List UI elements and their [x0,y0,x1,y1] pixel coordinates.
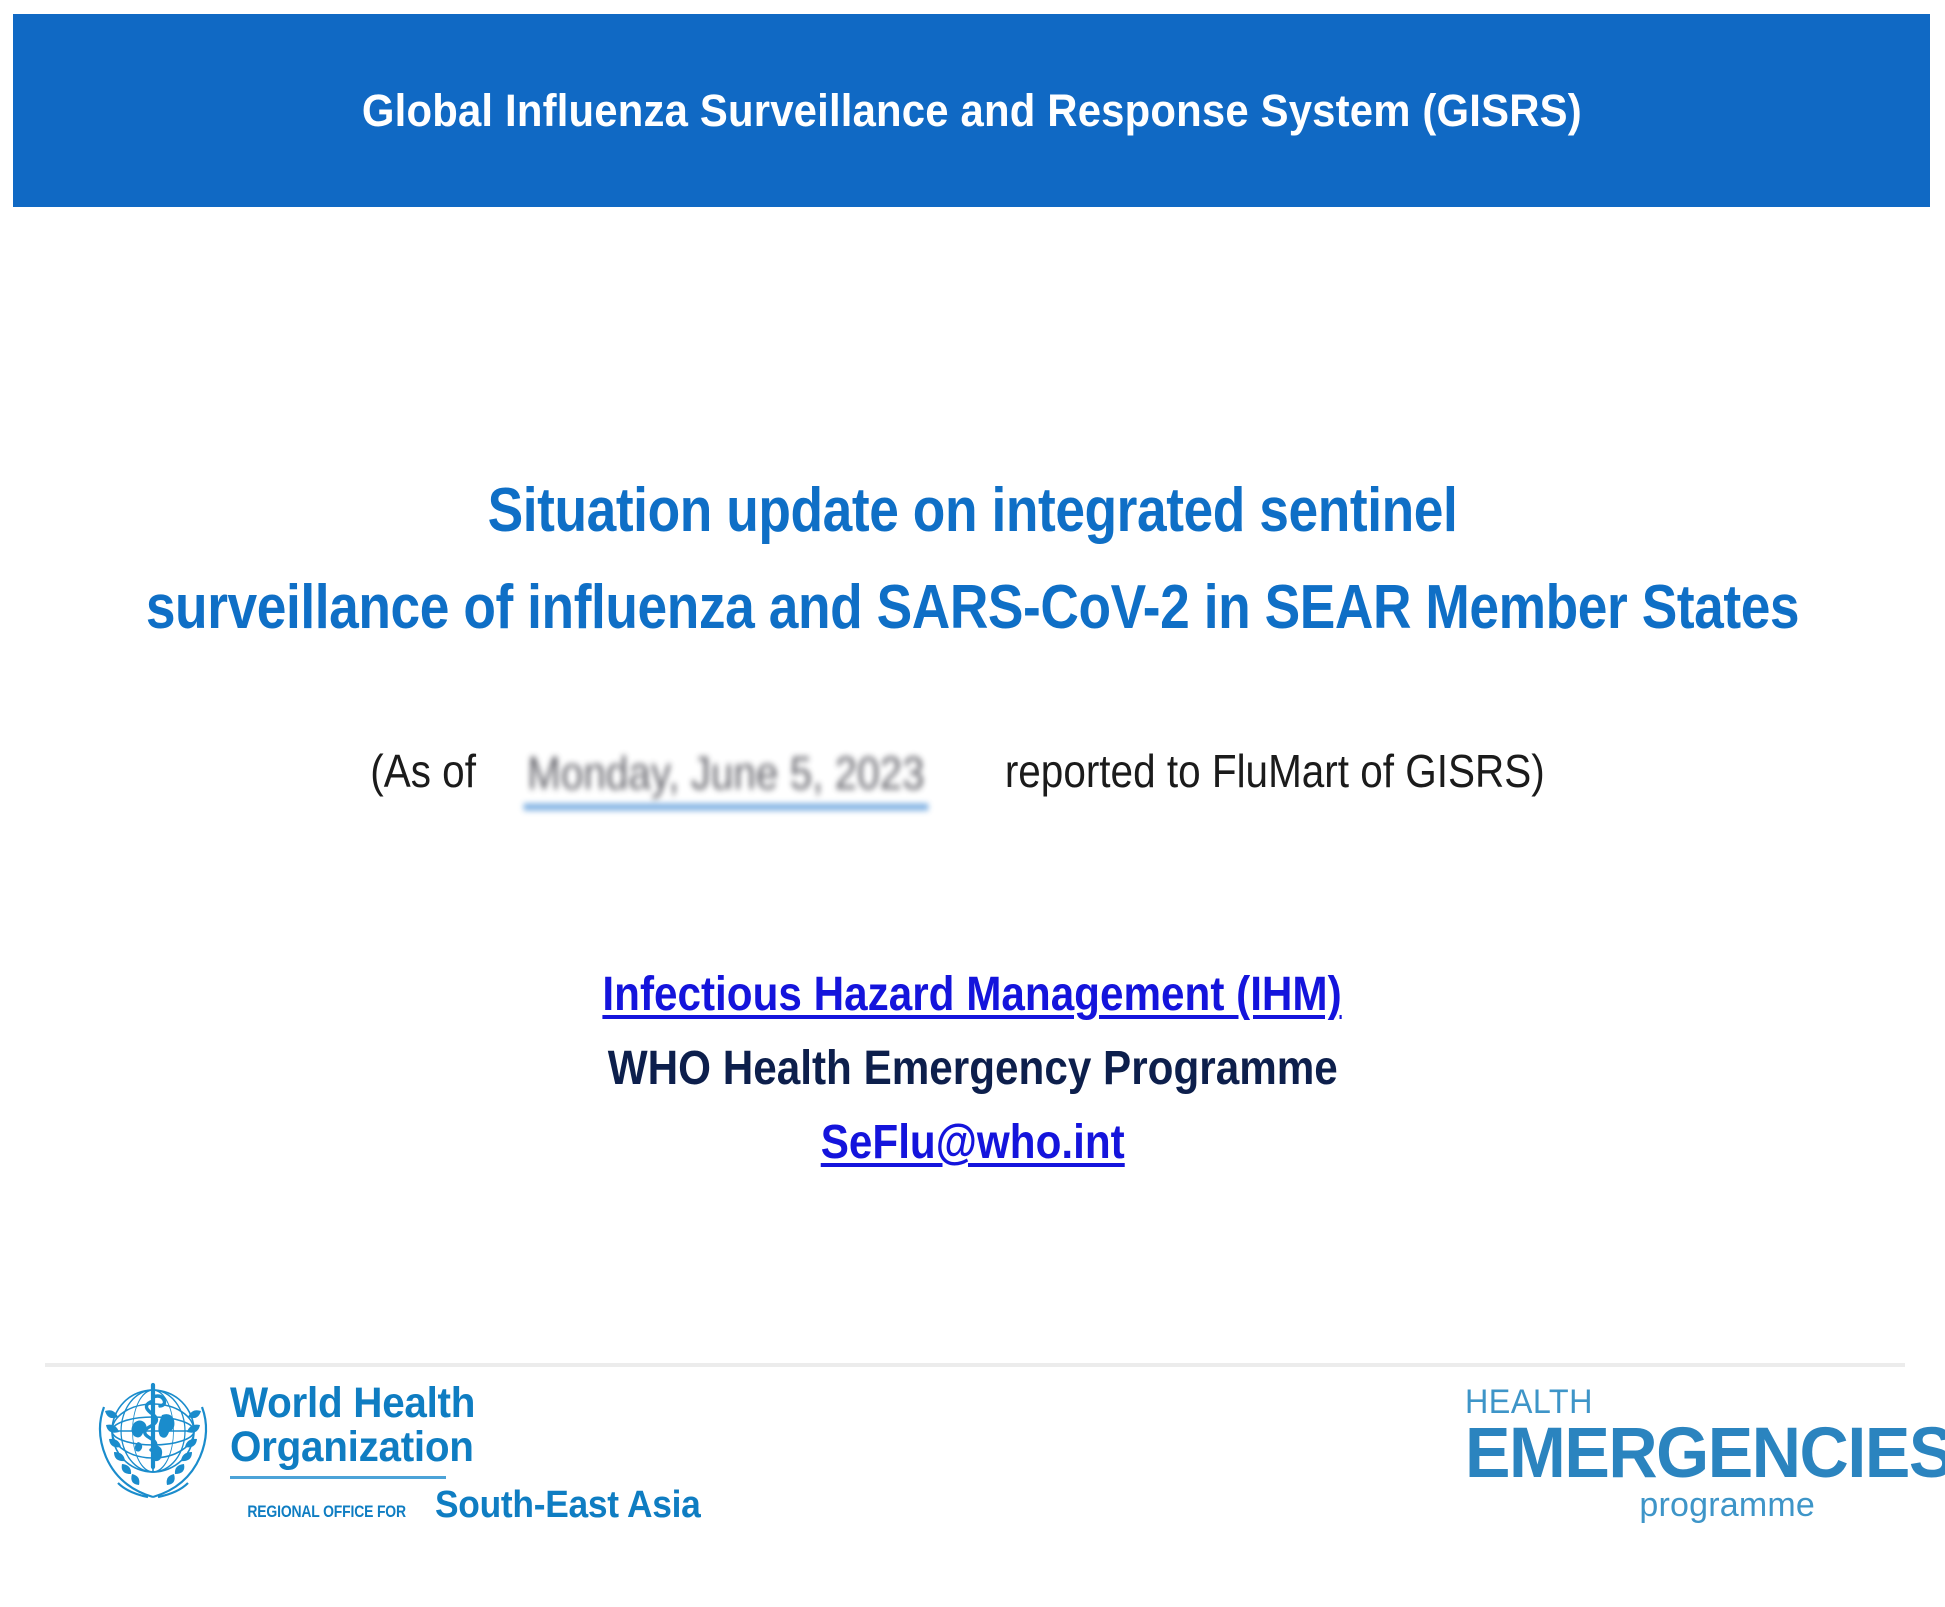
who-name-line-2: Organization [230,1425,682,1469]
contact-programme-line: WHO Health Emergency Programme [0,1032,1945,1106]
who-searo-logo: World Health Organization REGIONAL OFFIC… [90,1375,711,1527]
as-of-prefix: (As of [370,742,476,800]
email-link[interactable]: SeFlu@who.int [820,1106,1124,1180]
as-of-line: (As of Monday, June 5, 2023 reported to … [0,742,1945,808]
as-of-suffix: reported to FluMart of GISRS) [1005,742,1545,800]
programme-label: WHO Health Emergency Programme [607,1032,1337,1106]
gisrs-banner: Global Influenza Surveillance and Respon… [13,14,1930,207]
who-region-name: South-East Asia [435,1484,701,1527]
ihm-link[interactable]: Infectious Hazard Management (IHM) [603,958,1342,1032]
slide-title-line-2: surveillance of influenza and SARS-CoV-2… [136,559,1809,656]
slide-title: Situation update on integrated sentinel … [0,462,1945,656]
contact-unit-line: Infectious Hazard Management (IHM) [0,958,1945,1032]
health-emergencies-line-2: EMERGENCIES [1465,1421,1945,1487]
who-region-prefix: REGIONAL OFFICE FOR [247,1502,405,1522]
who-region-line: REGIONAL OFFICE FOR South-East Asia [230,1484,711,1527]
who-emblem-icon [90,1375,216,1507]
slide-title-line-1: Situation update on integrated sentinel [136,462,1809,559]
who-logo-rule [230,1476,446,1479]
who-wordmark: World Health Organization REGIONAL OFFIC… [230,1375,711,1527]
who-name-line-1: World Health [230,1381,682,1425]
contact-block: Infectious Hazard Management (IHM) WHO H… [0,958,1945,1180]
banner-title: Global Influenza Surveillance and Respon… [362,85,1582,137]
contact-email-line: SeFlu@who.int [0,1106,1945,1180]
as-of-date-redacted: Monday, June 5, 2023 [523,744,928,810]
health-emergencies-logo: HEALTH EMERGENCIES programme [1465,1385,1945,1523]
footer-divider [45,1363,1905,1367]
